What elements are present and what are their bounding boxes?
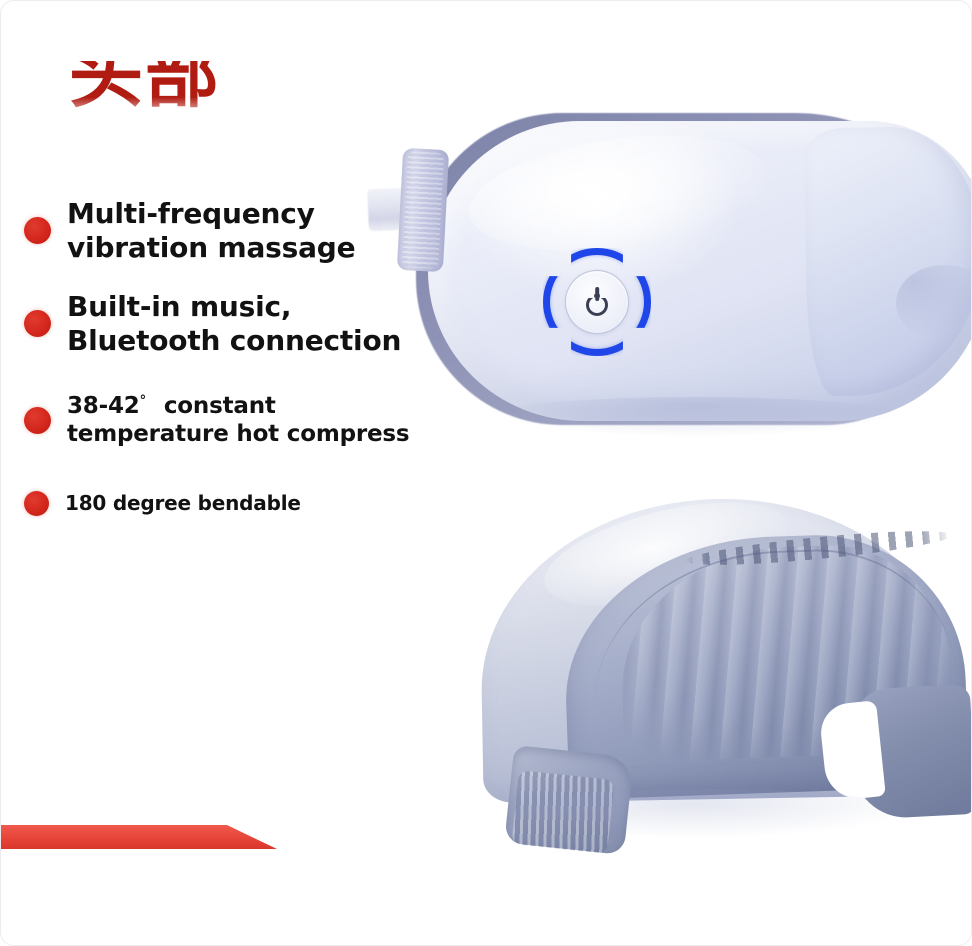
degree-symbol: °: [140, 394, 146, 409]
feature-line: 38-42°constant: [67, 393, 409, 421]
feature-list: Multi-frequency vibration massage Built-…: [1, 197, 431, 534]
feature-line: temperature hot compress: [67, 421, 409, 449]
red-accent-banner: [0, 825, 283, 849]
feature-line: Built-in music,: [67, 290, 401, 324]
feature-text: 180 degree bendable: [65, 491, 301, 515]
constant-label: constant: [164, 393, 276, 419]
feature-line: Multi-frequency: [67, 197, 355, 231]
power-button-cluster[interactable]: [538, 243, 656, 361]
feature-line: 180 degree bendable: [65, 491, 301, 515]
product-photo-bent-profile: [471, 489, 972, 849]
power-icon: [584, 289, 610, 315]
feature-item-bendable: 180 degree bendable: [1, 491, 431, 516]
headline-glyphs: 头部: [69, 61, 221, 122]
headline-fade-mask: [61, 97, 391, 131]
temperature-range: 38-42: [67, 393, 140, 419]
feature-text: Built-in music, Bluetooth connection: [67, 290, 401, 357]
power-button[interactable]: [565, 270, 629, 334]
mask-drop-shadow: [511, 789, 911, 837]
power-icon-bar: [595, 287, 599, 301]
bullet-dot-icon: [24, 310, 51, 337]
feature-text: 38-42°constant temperature hot compress: [67, 393, 409, 448]
product-photo-front: [376, 97, 972, 447]
mask-drop-shadow: [486, 397, 906, 437]
feature-line: Bluetooth connection: [67, 324, 401, 358]
feature-item-hot-compress: 38-42°constant temperature hot compress: [1, 393, 431, 448]
bullet-dot-icon: [24, 491, 49, 516]
bullet-dot-icon: [24, 407, 51, 434]
cut-off-headline-fragment: 头部: [69, 61, 369, 123]
feature-line: vibration massage: [67, 231, 355, 265]
bullet-dot-icon: [24, 217, 51, 244]
feature-item-music-bluetooth: Built-in music, Bluetooth connection: [1, 290, 431, 357]
feature-text: Multi-frequency vibration massage: [67, 197, 355, 264]
feature-item-vibration: Multi-frequency vibration massage: [1, 197, 431, 264]
product-feature-page: 头部 Multi-fr: [0, 0, 972, 946]
